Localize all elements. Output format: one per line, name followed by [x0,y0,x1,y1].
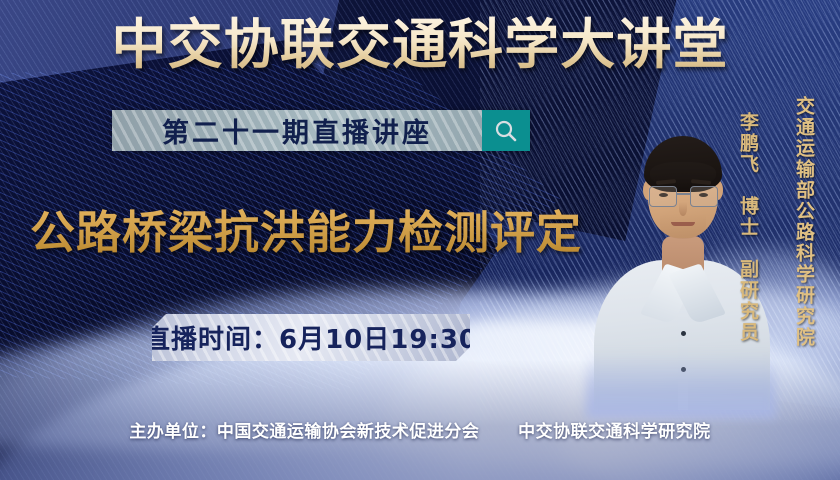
organizer-suffix: 中交协联交通科学研究院 [518,422,711,442]
live-lecture-poster: 中交协联交通科学大讲堂 第二十一期直播讲座 公路桥梁抗洪能力检测评定 直播时间：… [0,0,840,480]
episode-label: 第二十一期直播讲座 [162,111,432,150]
portrait-bottom-fade [586,352,776,418]
episode-banner: 第二十一期直播讲座 [112,110,530,151]
portrait-nose [679,202,687,216]
organizer-footer: 主办单位：中国交通运输协会新技术促进分会 中交协联交通科学研究院 [0,417,840,442]
broadcast-time-label: 直播时间：6月10日19:30 [152,319,470,356]
portrait-chin-shadow [660,213,706,239]
portrait-button-upper [681,331,686,336]
speaker-name-title: 李鹏飞 博士 副研究员 [735,112,762,343]
lecture-topic-title: 公路桥梁抗洪能力检测评定 [30,205,582,261]
glasses-lens-right [690,186,718,207]
page-title: 中交协联交通科学大讲堂 [0,14,840,76]
search-icon [493,118,519,144]
search-button[interactable] [482,110,530,151]
glasses-bridge [677,193,690,195]
speaker-affiliation: 交通运输部公路科学研究院 [791,96,818,348]
broadcast-time-banner: 直播时间：6月10日19:30 [152,314,470,361]
portrait-mouth [671,222,695,226]
organizer-prefix: 主办单位：中国交通运输协会新技术促进分会 [129,422,479,442]
glasses-lens-left [649,186,677,207]
episode-banner-body: 第二十一期直播讲座 [112,110,482,151]
